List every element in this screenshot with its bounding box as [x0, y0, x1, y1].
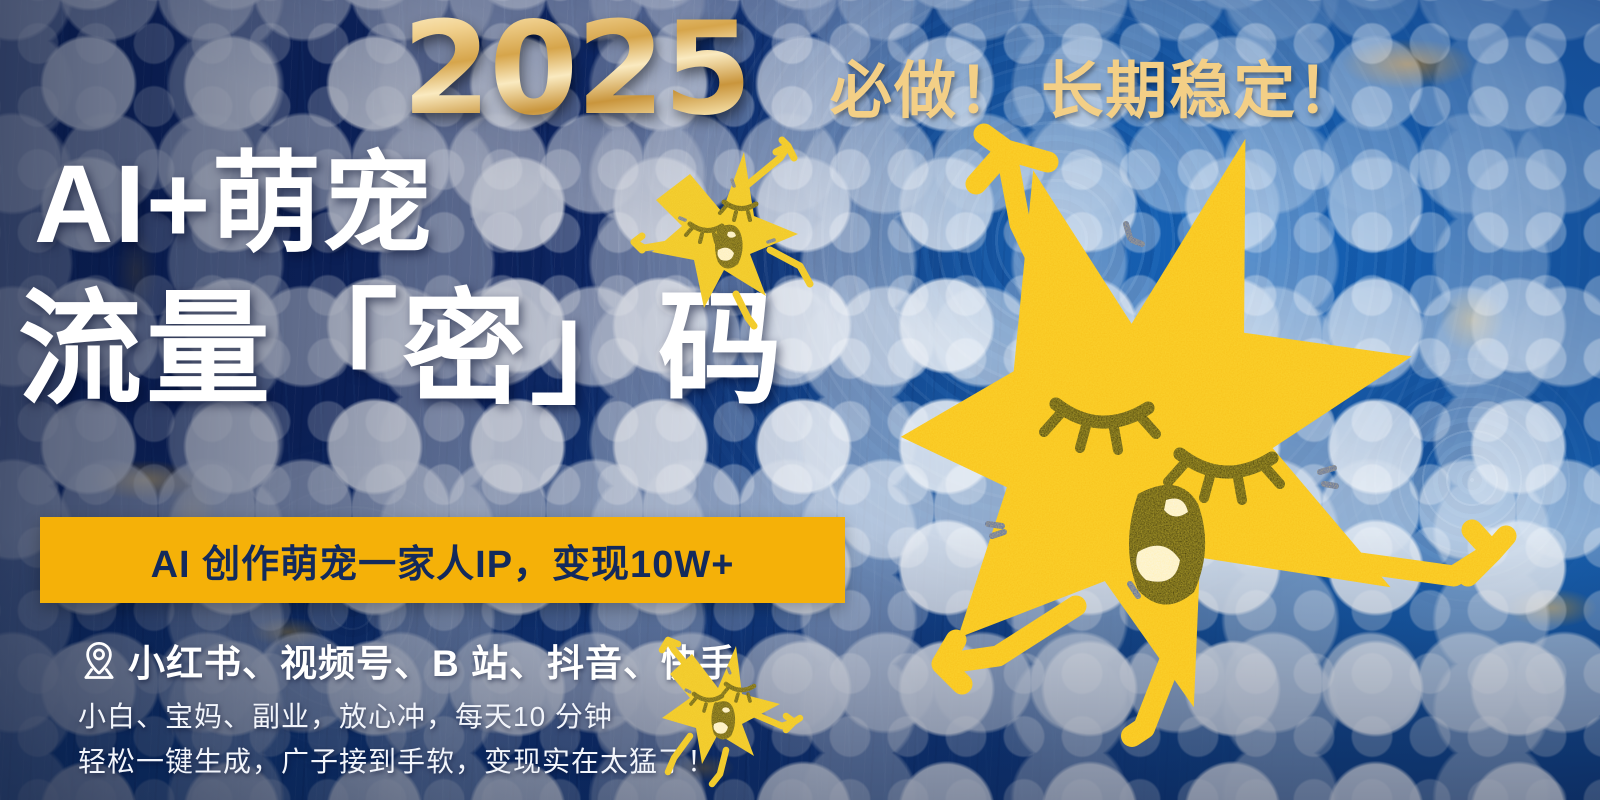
tagline-line-1: 小白、宝妈、副业，放心冲，每天10 分钟	[78, 695, 613, 735]
year-badge: 2025	[402, 6, 750, 134]
promo-banner: 2025 必做！ 长期稳定！ AI+萌宠 流量「密」码 AI 创作萌宠一家人IP…	[0, 0, 1600, 800]
star-character-large	[880, 128, 1500, 738]
top-slogan: 必做！ 长期稳定！	[830, 40, 1361, 130]
banner-content: 2025 必做！ 长期稳定！ AI+萌宠 流量「密」码 AI 创作萌宠一家人IP…	[0, 0, 1600, 800]
location-pin-icon	[78, 639, 120, 681]
subtitle-text: AI 创作萌宠一家人IP，变现10W+	[151, 533, 735, 588]
platform-list-text: 小红书、视频号、B 站、抖音、快手	[128, 633, 737, 687]
tagline-line-2: 轻松一键生成，广子接到手软，变现实在太猛了！	[78, 740, 716, 780]
subtitle-bar: AI 创作萌宠一家人IP，变现10W+	[40, 517, 845, 603]
star-character-small-top	[628, 138, 833, 328]
platform-row: 小红书、视频号、B 站、抖音、快手	[78, 633, 737, 687]
star-character-small-bottom	[648, 632, 808, 790]
headline-line-1: AI+萌宠	[34, 150, 433, 260]
